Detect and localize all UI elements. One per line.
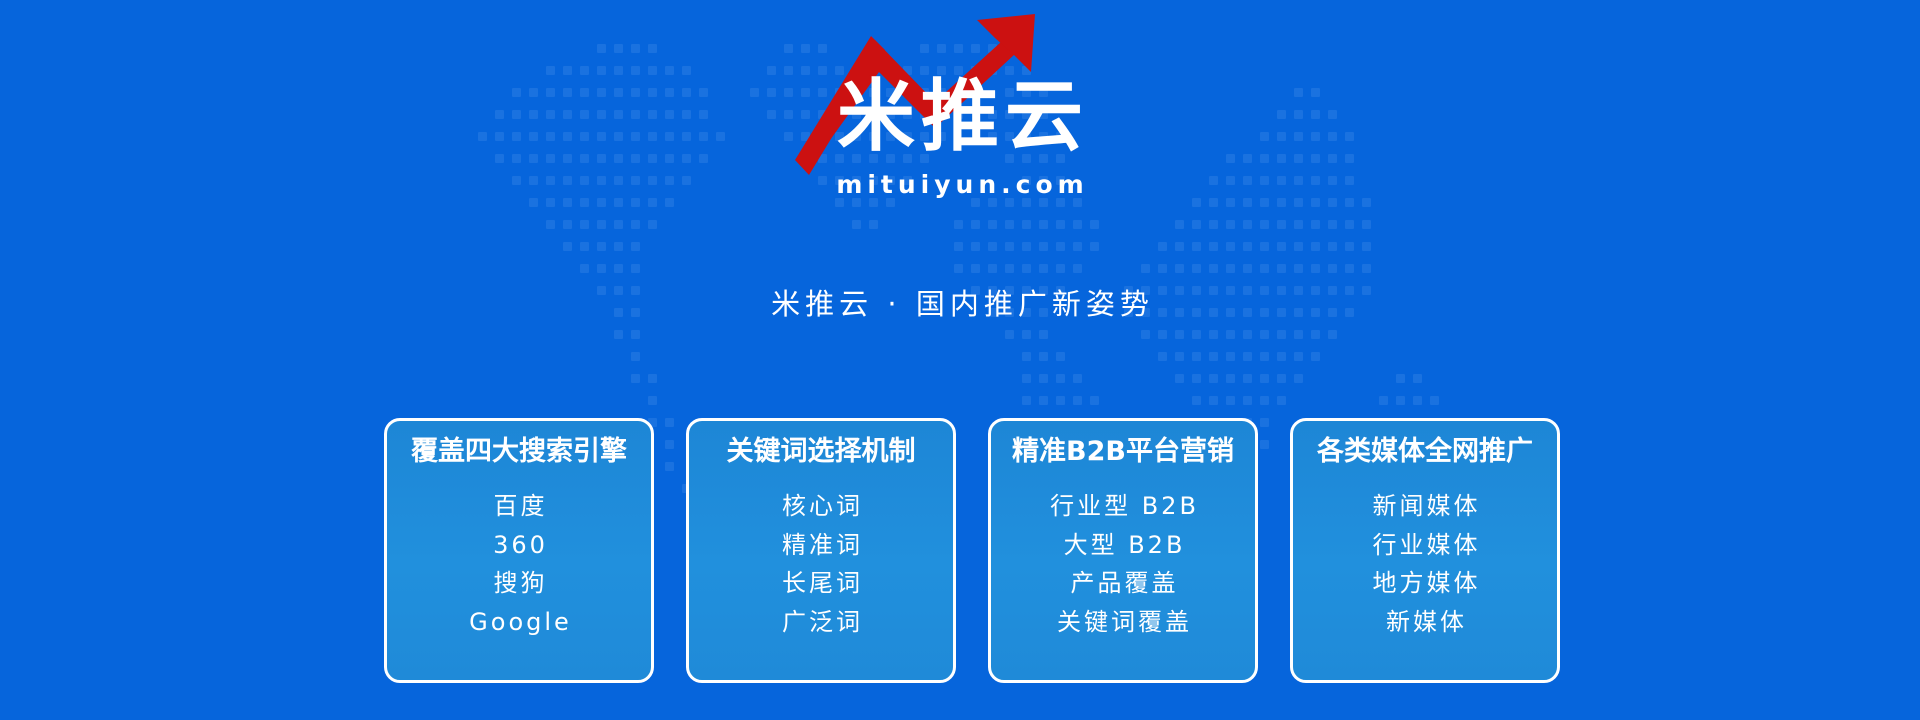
logo-mark: 米推云 mituiyun.com <box>745 10 1175 220</box>
feature-card-row: 覆盖四大搜索引擎 百度 360 搜狗 Google 关键词选择机制 核心词 精准… <box>384 418 1560 683</box>
card-item: 行业型 B2B <box>1047 490 1199 522</box>
card-item-list: 核心词 精准词 长尾词 广泛词 <box>779 490 863 638</box>
tagline: 米推云 · 国内推广新姿势 <box>0 281 1920 323</box>
card-item: 新闻媒体 <box>1370 490 1481 522</box>
card-item: 大型 B2B <box>1061 529 1186 561</box>
feature-card-b2b-marketing[interactable]: 精准B2B平台营销 行业型 B2B 大型 B2B 产品覆盖 关键词覆盖 <box>988 418 1258 683</box>
feature-card-keyword-mechanism[interactable]: 关键词选择机制 核心词 精准词 长尾词 广泛词 <box>686 418 956 683</box>
logo-wordmark: 米推云 <box>745 78 1175 156</box>
card-item: 关键词覆盖 <box>1054 606 1192 638</box>
logo-domain-text: mituiyun.com <box>745 172 1175 197</box>
card-item: 行业媒体 <box>1370 529 1481 561</box>
card-item: 广泛词 <box>779 606 863 638</box>
card-item: 搜狗 <box>490 567 547 599</box>
card-item: 新媒体 <box>1383 606 1467 638</box>
card-item: 核心词 <box>779 490 863 522</box>
card-item: Google <box>466 606 572 638</box>
card-item-list: 新闻媒体 行业媒体 地方媒体 新媒体 <box>1370 490 1481 638</box>
card-item: 地方媒体 <box>1370 567 1481 599</box>
card-title: 关键词选择机制 <box>727 438 916 466</box>
feature-card-media-promotion[interactable]: 各类媒体全网推广 新闻媒体 行业媒体 地方媒体 新媒体 <box>1290 418 1560 683</box>
card-item-list: 行业型 B2B 大型 B2B 产品覆盖 关键词覆盖 <box>1047 490 1199 638</box>
card-item: 百度 <box>490 490 547 522</box>
card-item: 产品覆盖 <box>1067 567 1178 599</box>
card-item: 精准词 <box>779 529 863 561</box>
card-item: 360 <box>490 529 548 561</box>
card-title: 精准B2B平台营销 <box>1012 438 1234 466</box>
card-item: 长尾词 <box>779 567 863 599</box>
feature-card-search-engines[interactable]: 覆盖四大搜索引擎 百度 360 搜狗 Google <box>384 418 654 683</box>
card-title: 各类媒体全网推广 <box>1317 438 1533 466</box>
banner-stage: 米推云 mituiyun.com 米推云 · 国内推广新姿势 覆盖四大搜索引擎 … <box>0 0 1920 720</box>
card-item-list: 百度 360 搜狗 Google <box>466 490 572 638</box>
logo-block: 米推云 mituiyun.com <box>0 10 1920 225</box>
card-title: 覆盖四大搜索引擎 <box>411 438 627 466</box>
